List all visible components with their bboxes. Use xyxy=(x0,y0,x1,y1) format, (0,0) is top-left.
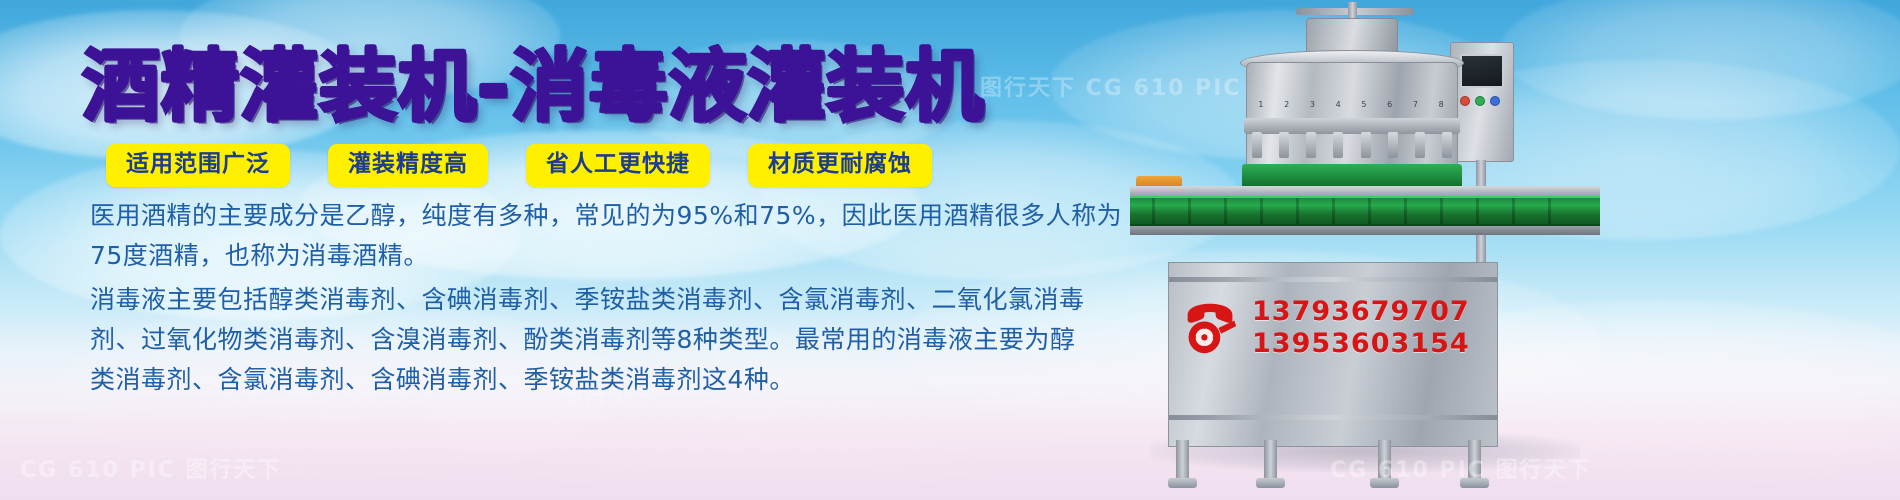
panel-button-start-icon xyxy=(1475,96,1485,106)
belt-slat xyxy=(1440,198,1443,224)
machine-leg xyxy=(1468,440,1481,480)
belt-slat xyxy=(1152,198,1155,224)
description-block: 医用酒精的主要成分是乙醇，纯度有多种，常见的为95%和75%，因此医用酒精很多人… xyxy=(90,196,1110,404)
station-number: 5 xyxy=(1361,100,1366,109)
machine-panel-buttons xyxy=(1460,96,1504,106)
panel-button-stop-icon xyxy=(1460,96,1470,106)
product-machine-image: 1 2 3 4 5 6 7 8 xyxy=(1120,0,1620,500)
belt-slat xyxy=(1188,198,1191,224)
phone-numbers[interactable]: 13793679707 13953603154 xyxy=(1252,296,1470,360)
station-number: 4 xyxy=(1336,100,1341,109)
machine-leg xyxy=(1378,440,1391,480)
machine-hmi-screen xyxy=(1460,54,1504,88)
nozzle xyxy=(1279,132,1289,158)
belt-slat xyxy=(1404,198,1407,224)
machine-rotary-table xyxy=(1242,164,1462,188)
phone-number-primary[interactable]: 13793679707 xyxy=(1252,296,1470,328)
contact-block[interactable]: 13793679707 13953603154 xyxy=(1180,296,1470,360)
station-number: 3 xyxy=(1310,100,1315,109)
belt-slat xyxy=(1368,198,1371,224)
belt-slat xyxy=(1296,198,1299,224)
feature-badge-material: 材质更耐腐蚀 xyxy=(748,144,932,187)
feature-badge-precision: 灌装精度高 xyxy=(328,144,488,187)
paragraph-disinfectant: 消毒液主要包括醇类消毒剂、含碘消毒剂、季铵盐类消毒剂、含氯消毒剂、二氧化氯消毒 … xyxy=(90,280,1110,400)
paragraph-alcohol: 医用酒精的主要成分是乙醇，纯度有多种，常见的为95%和75%，因此医用酒精很多人… xyxy=(90,196,1110,276)
conveyor-lower-rail xyxy=(1130,226,1600,235)
machine-conveyor-belt xyxy=(1130,196,1600,226)
station-number: 7 xyxy=(1413,100,1418,109)
page-title: 酒精灌装机-消毒液灌装机 xyxy=(82,48,984,126)
belt-slat xyxy=(1224,198,1227,224)
nozzle xyxy=(1415,132,1425,158)
nozzle xyxy=(1388,132,1398,158)
machine-legs xyxy=(1168,440,1498,492)
feature-badge-labor: 省人工更快捷 xyxy=(526,144,710,187)
machine-leg xyxy=(1264,440,1277,480)
banner-content: 酒精灌装机-消毒液灌装机 适用范围广泛 灌装精度高 省人工更快捷 材质更耐腐蚀 … xyxy=(0,0,1150,500)
paragraph-line: 消毒液主要包括醇类消毒剂、含碘消毒剂、季铵盐类消毒剂、含氯消毒剂、二氧化氯消毒 xyxy=(90,280,1110,320)
promo-banner: 酒精灌装机-消毒液灌装机 适用范围广泛 灌装精度高 省人工更快捷 材质更耐腐蚀 … xyxy=(0,0,1900,500)
station-number: 6 xyxy=(1387,100,1392,109)
feature-badge-list: 适用范围广泛 灌装精度高 省人工更快捷 材质更耐腐蚀 xyxy=(106,144,932,187)
belt-slat xyxy=(1260,198,1263,224)
nozzle xyxy=(1252,132,1262,158)
station-number: 2 xyxy=(1284,100,1289,109)
station-number: 8 xyxy=(1439,100,1444,109)
paragraph-line: 75度酒精，也称为消毒酒精。 xyxy=(90,236,1110,276)
paragraph-line: 类消毒剂、含氯消毒剂、含碘消毒剂、季铵盐类消毒剂这4种。 xyxy=(90,360,1110,400)
belt-slat xyxy=(1332,198,1335,224)
machine-filling-nozzles xyxy=(1252,132,1452,162)
belt-slat xyxy=(1476,198,1479,224)
nozzle xyxy=(1442,132,1452,158)
nozzle xyxy=(1333,132,1343,158)
paragraph-line: 剂、过氧化物类消毒剂、含溴消毒剂、酚类消毒剂等8种类型。最常用的消毒液主要为醇 xyxy=(90,320,1110,360)
station-number: 1 xyxy=(1258,100,1263,109)
conveyor-upper-rail xyxy=(1130,186,1600,196)
belt-slat xyxy=(1512,198,1515,224)
feature-badge-scope: 适用范围广泛 xyxy=(106,144,290,187)
phone-number-secondary[interactable]: 13953603154 xyxy=(1252,328,1470,360)
machine-leg xyxy=(1176,440,1189,480)
belt-slat xyxy=(1548,198,1551,224)
telephone-icon xyxy=(1180,300,1240,356)
machine-station-numbers: 1 2 3 4 5 6 7 8 xyxy=(1248,100,1454,109)
nozzle xyxy=(1361,132,1371,158)
panel-button-mode-icon xyxy=(1490,96,1500,106)
paragraph-line: 医用酒精的主要成分是乙醇，纯度有多种，常见的为95%和75%，因此医用酒精很多人… xyxy=(90,196,1110,236)
nozzle xyxy=(1306,132,1316,158)
